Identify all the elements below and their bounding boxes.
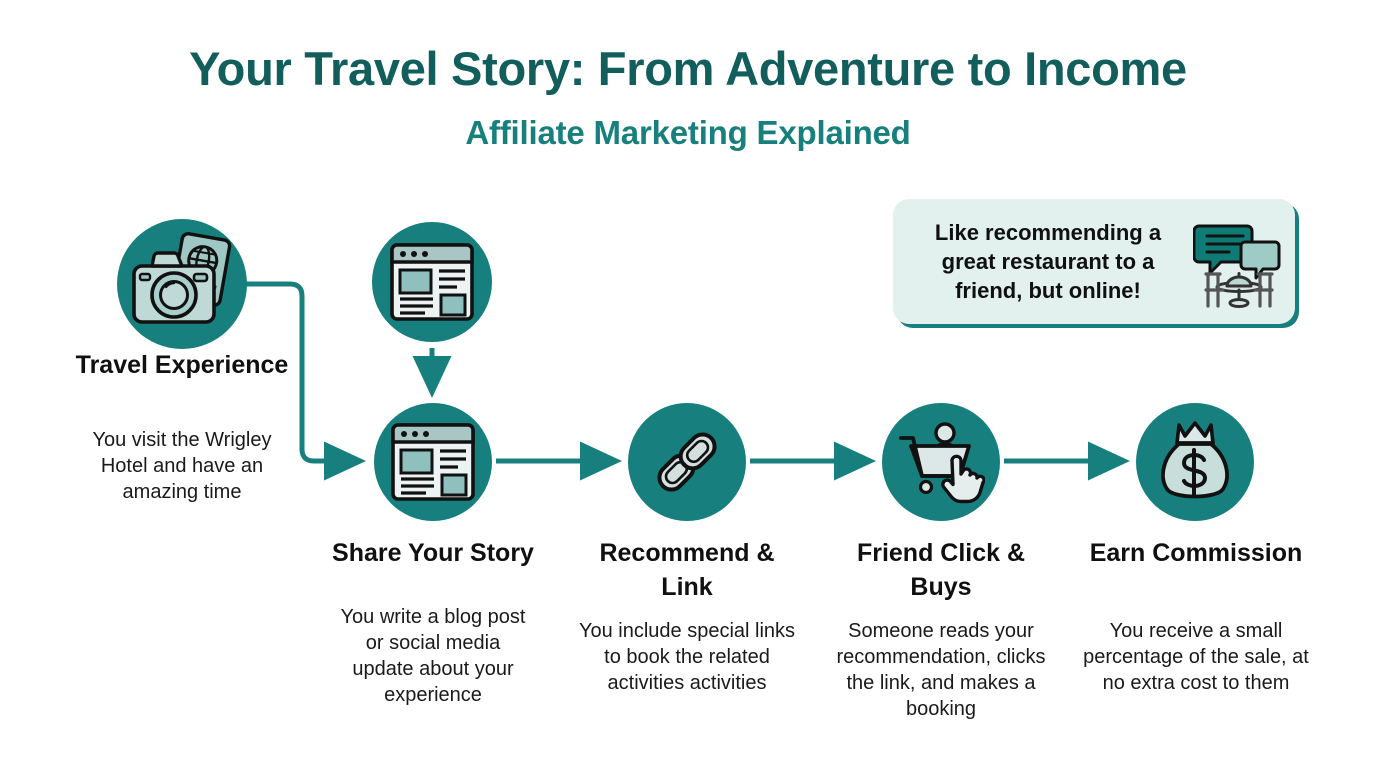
webpage-browser-icon — [374, 403, 492, 521]
infographic-canvas: Your Travel Story: From Adventure to Inc… — [0, 0, 1376, 768]
step-label-recommend-and-link: Recommend & Link — [574, 536, 800, 604]
step-desc-share-your-story: You write a blog post or social media up… — [333, 604, 533, 708]
step-label-earn-commission: Earn Commission — [1084, 536, 1308, 570]
step-desc-earn-commission: You receive a small percentage of the sa… — [1082, 618, 1310, 696]
step-desc-friend-click-and-buys: Someone reads your recommendation, click… — [828, 618, 1054, 722]
step-label-share-your-story: Share Your Story — [323, 536, 543, 570]
step-label-travel-experience: Travel Experience — [64, 348, 300, 382]
shopping-cart-click-icon — [882, 403, 1000, 521]
webpage-browser-icon — [372, 222, 492, 342]
chain-link-icon — [628, 403, 746, 521]
step-desc-recommend-and-link: You include special links to book the re… — [576, 618, 798, 696]
callout-text: Like recommending a great restaurant to … — [893, 218, 1189, 305]
money-bag-dollar-icon — [1136, 403, 1254, 521]
callout-box: Like recommending a great restaurant to … — [893, 199, 1295, 324]
step-label-friend-click-and-buys: Friend Click & Buys — [828, 536, 1054, 604]
step-desc-travel-experience: You visit the Wrigley Hotel and have an … — [74, 427, 290, 505]
speech-bubbles-restaurant-table-icon — [1189, 212, 1289, 312]
camera-passport-icon — [117, 219, 247, 349]
